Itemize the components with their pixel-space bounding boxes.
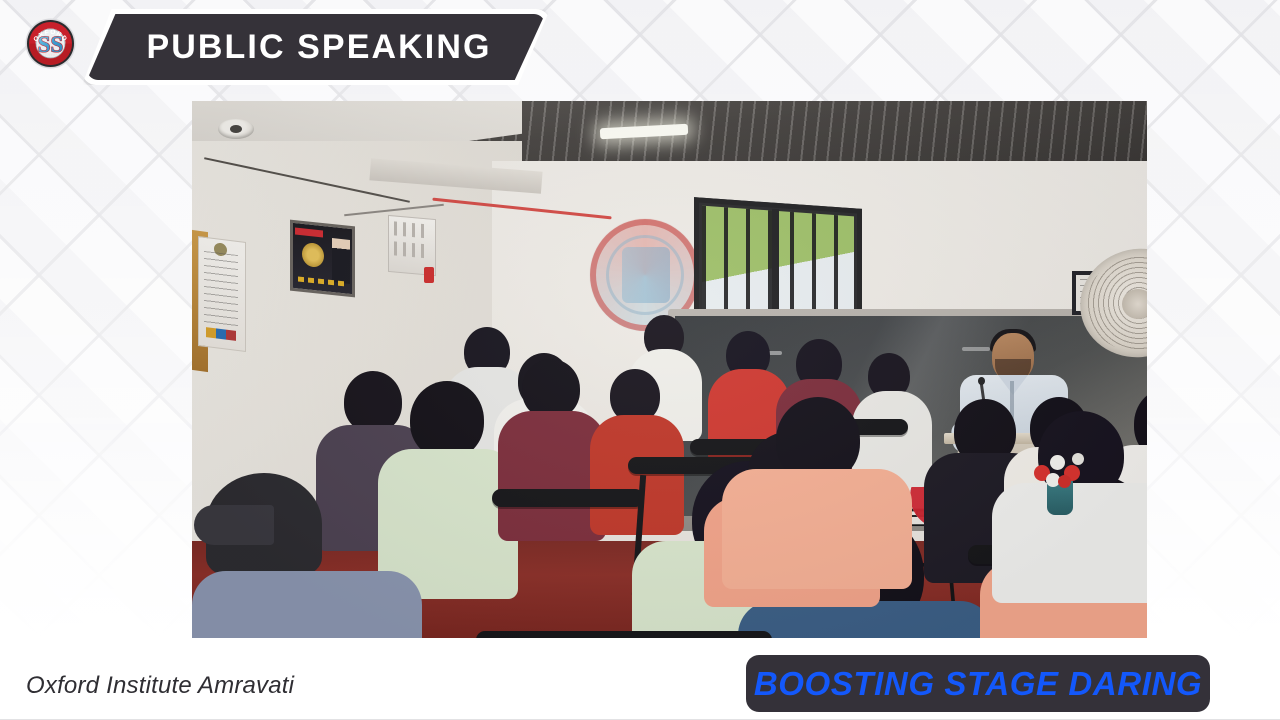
footer-highlight-text: BOOSTING STAGE DARING: [754, 665, 1202, 703]
footer-caption: Oxford Institute Amravati: [26, 672, 294, 700]
footer-highlight-banner: BOOSTING STAGE DARING: [746, 655, 1210, 712]
oxford-ss-badge-icon: OXFORD INSTITUTE SS: [25, 18, 76, 69]
classroom-photo: OXFORD INSTITUTE: [192, 101, 1147, 638]
svg-text:SS: SS: [38, 32, 64, 57]
slide-root: OXFORD INSTITUTE SS PUBLIC SPEAKING: [0, 0, 1280, 720]
photo-vignette: [192, 101, 1147, 638]
page-title: PUBLIC SPEAKING: [82, 9, 550, 85]
title-banner: PUBLIC SPEAKING: [82, 9, 550, 85]
